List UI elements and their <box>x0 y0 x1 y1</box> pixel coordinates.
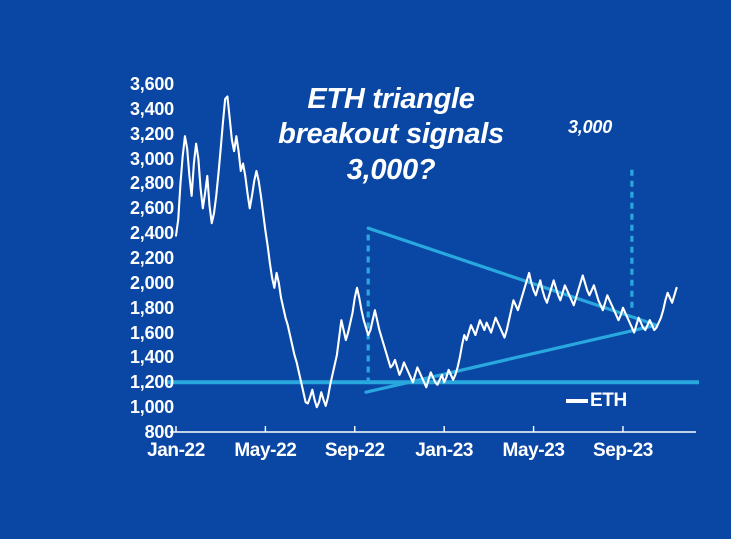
y-tick-label: 1,200 <box>130 373 174 391</box>
y-tick-label: 1,600 <box>130 324 174 342</box>
legend-label-eth: ETH <box>590 390 627 412</box>
chart-title-line-2: breakout signals <box>236 117 546 152</box>
x-tick-label: Sep-22 <box>325 440 385 462</box>
x-tick-label: Jan-23 <box>415 440 473 462</box>
chart-title: ETH triangle breakout signals 3,000? <box>236 82 546 188</box>
x-tick-label: Sep-23 <box>593 440 653 462</box>
target-price-annotation: 3,000 <box>568 117 612 138</box>
legend-line-marker-eth <box>566 399 588 403</box>
y-tick-label: 3,400 <box>130 100 174 118</box>
x-tick-label: Jan-22 <box>147 440 205 462</box>
chart-title-line-3: 3,000? <box>236 153 546 188</box>
y-tick-label: 3,600 <box>130 75 174 93</box>
x-tick-label: May-22 <box>234 440 296 462</box>
y-tick-label: 2,800 <box>130 174 174 192</box>
y-tick-label: 800 <box>145 423 174 441</box>
y-tick-label: 2,200 <box>130 249 174 267</box>
y-tick-label: 3,000 <box>130 150 174 168</box>
y-tick-label: 2,400 <box>130 224 174 242</box>
chart-canvas: 3,6003,4003,2003,0002,8002,6002,4002,200… <box>0 0 731 539</box>
chart-title-line-1: ETH triangle <box>236 82 546 117</box>
chart-legend: ETH <box>566 390 627 412</box>
annotation-lines-group <box>167 165 699 392</box>
x-tick-label: May-23 <box>503 440 565 462</box>
y-tick-label: 3,200 <box>130 125 174 143</box>
y-tick-label: 1,800 <box>130 299 174 317</box>
axis-group <box>170 426 696 432</box>
y-tick-label: 1,000 <box>130 398 174 416</box>
y-tick-label: 1,400 <box>130 348 174 366</box>
y-tick-label: 2,000 <box>130 274 174 292</box>
y-tick-label: 2,600 <box>130 199 174 217</box>
